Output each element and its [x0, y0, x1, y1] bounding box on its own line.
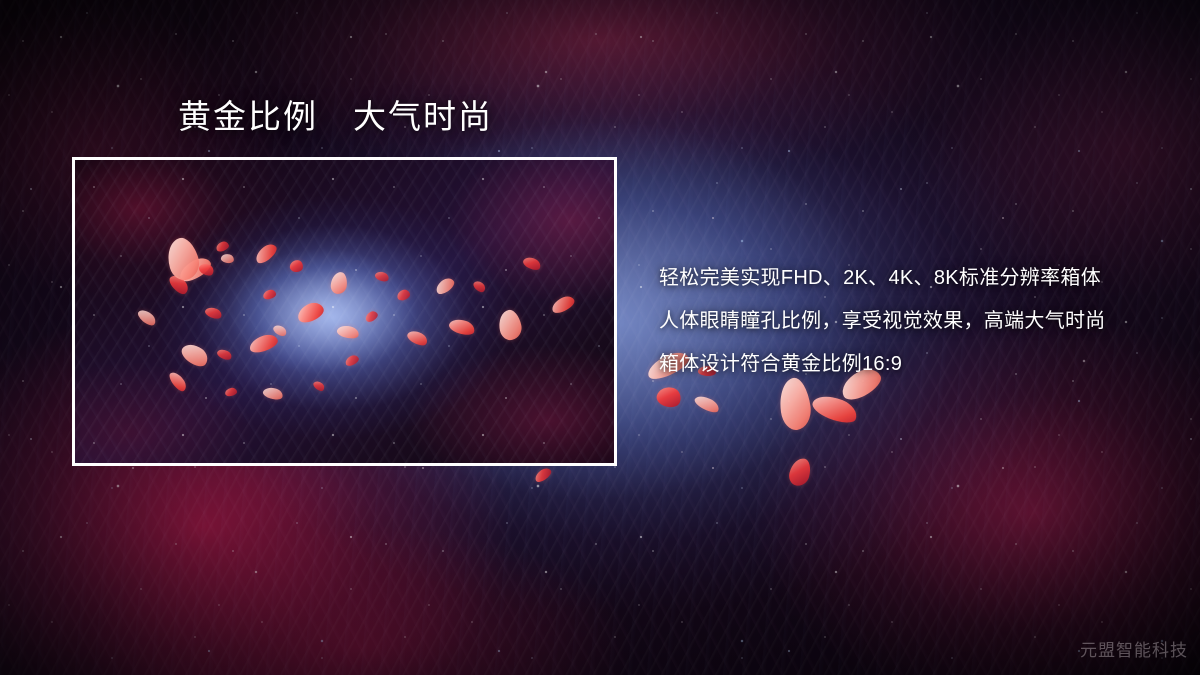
petal — [533, 466, 554, 484]
watermark-label: 元盟智能科技 — [1080, 636, 1188, 661]
framed-photo — [72, 157, 617, 466]
photo-starfield — [75, 160, 614, 463]
petal — [810, 390, 861, 428]
slide-title: 黄金比例 大气时尚 — [178, 99, 493, 136]
body-line-3: 箱体设计符合黄金比例16:9 — [659, 343, 1159, 386]
body-line-1: 轻松完美实现FHD、2K、4K、8K标准分辨率箱体 — [659, 257, 1159, 300]
petal — [654, 384, 683, 410]
presentation-slide: 黄金比例 大气时尚 轻松完美实现FHD、2K、4K、8K标准分辨率箱体 人体眼睛… — [0, 0, 1200, 675]
petal — [787, 456, 813, 488]
body-line-2: 人体眼睛瞳孔比例，享受视觉效果，高端大气时尚 — [659, 300, 1159, 343]
body-text-block: 轻松完美实现FHD、2K、4K、8K标准分辨率箱体 人体眼睛瞳孔比例，享受视觉效… — [659, 257, 1159, 386]
petal — [693, 393, 722, 416]
